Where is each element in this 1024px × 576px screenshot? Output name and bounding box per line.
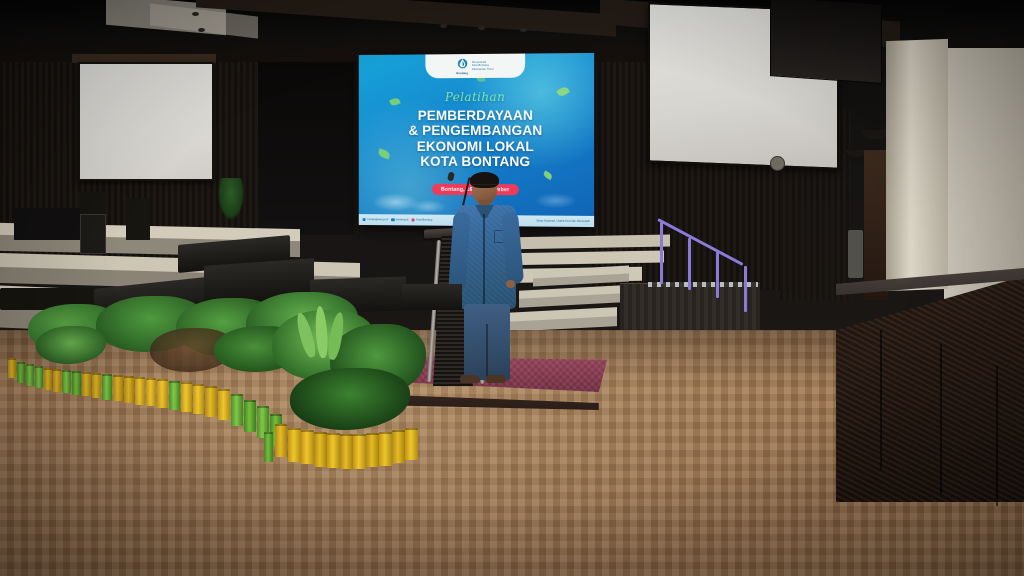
bamboo-tube	[327, 433, 340, 468]
wall-panel-box	[848, 230, 863, 278]
logo-tagline: Pemerintah Kota Bontang Kalimantan Timur	[472, 61, 494, 71]
foliage-clump	[36, 326, 106, 364]
bamboo-tube	[135, 377, 145, 405]
footer-item-web: bontangkota.go.id	[363, 218, 389, 222]
eyeglasses-icon	[472, 184, 497, 190]
support-column	[886, 39, 948, 291]
bamboo-tube	[231, 394, 243, 426]
bamboo-tube	[92, 373, 101, 398]
bamboo-tube	[44, 368, 52, 390]
left-projection-screen	[78, 62, 214, 181]
speaker-leg-seam	[486, 324, 488, 378]
speaker-right-shoe	[486, 375, 506, 383]
web-icon	[363, 218, 366, 221]
carved-panel-seam	[996, 366, 998, 506]
speaker-left-shoe	[460, 375, 480, 383]
leaf-decoration-icon	[542, 170, 553, 180]
footer-label: bontang.id	[396, 218, 408, 221]
side-door[interactable]	[864, 150, 888, 300]
bamboo-tube	[379, 432, 392, 466]
handrail-post	[688, 238, 691, 290]
bamboo-tube	[82, 372, 91, 396]
bamboo-tube	[26, 364, 34, 386]
bamboo-tube	[35, 366, 43, 388]
bamboo-tube	[113, 375, 123, 401]
bamboo-tube	[288, 428, 301, 462]
decorative-plant-arrangement	[0, 296, 430, 476]
ceiling-downlight-icon	[440, 24, 447, 28]
handrail-post	[660, 222, 663, 284]
carved-panel-seam	[940, 344, 942, 494]
folding-chair[interactable]	[80, 214, 106, 254]
bamboo-tube	[157, 379, 168, 408]
dark-doorway	[258, 40, 354, 235]
footer-item-instagram: Kota Bontang	[411, 218, 432, 222]
bamboo-tube	[124, 376, 134, 403]
logo-mark: Bontang	[456, 57, 468, 75]
bamboo-tube	[193, 384, 204, 414]
bamboo-tube	[392, 430, 405, 463]
bamboo-tube	[8, 358, 16, 378]
ceiling-downlight-icon	[198, 28, 205, 32]
bamboo-tube	[181, 382, 192, 412]
footer-item-facebook: bontang.id	[391, 218, 408, 222]
bamboo-tube	[264, 432, 273, 462]
footer-right-label: Dinas Koperasi, Usaha Kecil dan Menengah	[536, 220, 590, 223]
slide-headline-line: PEMBERDAYAAN	[365, 108, 588, 124]
right-wall	[944, 48, 1024, 304]
slide-headline-line: EKONOMI LOKAL	[365, 139, 588, 155]
handrail-post	[716, 252, 719, 298]
wall-clock-icon	[770, 156, 785, 171]
carved-panel-seam	[880, 330, 882, 471]
speaker-shirt-placket	[483, 214, 485, 306]
pa-speaker	[126, 198, 150, 240]
ceiling-mounted-display	[770, 0, 882, 84]
logo-tagline-line: Kalimantan Timur	[472, 67, 494, 70]
ceiling-downlight-icon	[478, 26, 485, 30]
slide-headline: PEMBERDAYAAN & PENGEMBANGAN EKONOMI LOKA…	[359, 108, 594, 170]
bamboo-tube	[169, 381, 180, 410]
stage-gear	[14, 208, 80, 240]
bamboo-tube	[205, 386, 217, 417]
bamboo-tube	[340, 434, 353, 469]
bamboo-tube	[146, 378, 156, 406]
slide-headline-line: KOTA BONTANG	[365, 154, 588, 170]
bamboo-tube	[53, 369, 61, 392]
foliage-clump-front	[290, 368, 410, 430]
slide-logo-tab: Bontang Pemerintah Kota Bontang Kalimant…	[425, 54, 525, 79]
auditorium-photo: Bontang Pemerintah Kota Bontang Kalimant…	[0, 0, 1024, 576]
slide-script-word: Pelatihan	[359, 89, 594, 104]
ceiling-downlight-icon	[520, 28, 527, 32]
speaker-person	[452, 174, 524, 386]
bamboo-tube	[218, 389, 230, 420]
bamboo-tube	[244, 400, 256, 432]
handrail-post	[744, 266, 747, 312]
stair-handrail[interactable]	[658, 208, 754, 316]
speaker-right-hand	[506, 280, 515, 288]
footer-label: bontangkota.go.id	[367, 218, 388, 221]
bamboo-tube	[314, 432, 327, 467]
bamboo-tube	[102, 374, 112, 400]
water-droplet-icon	[457, 57, 468, 70]
handrail-top	[657, 218, 743, 266]
potted-plant	[218, 178, 244, 220]
bamboo-tube	[17, 362, 25, 383]
instagram-icon	[411, 218, 414, 221]
bamboo-tube	[62, 370, 71, 393]
logo-brand-text: Bontang	[456, 71, 468, 75]
bamboo-tube	[301, 430, 314, 464]
bamboo-tube	[366, 433, 379, 467]
bamboo-tube	[405, 428, 418, 460]
footer-label: Kota Bontang	[416, 218, 432, 221]
facebook-icon	[391, 218, 394, 221]
ceiling-downlight-icon	[192, 12, 199, 16]
bamboo-tube	[72, 371, 81, 395]
bamboo-tube	[275, 424, 287, 457]
slide-headline-line: & PENGEMBANGAN	[365, 123, 588, 139]
bamboo-tube	[353, 434, 366, 469]
